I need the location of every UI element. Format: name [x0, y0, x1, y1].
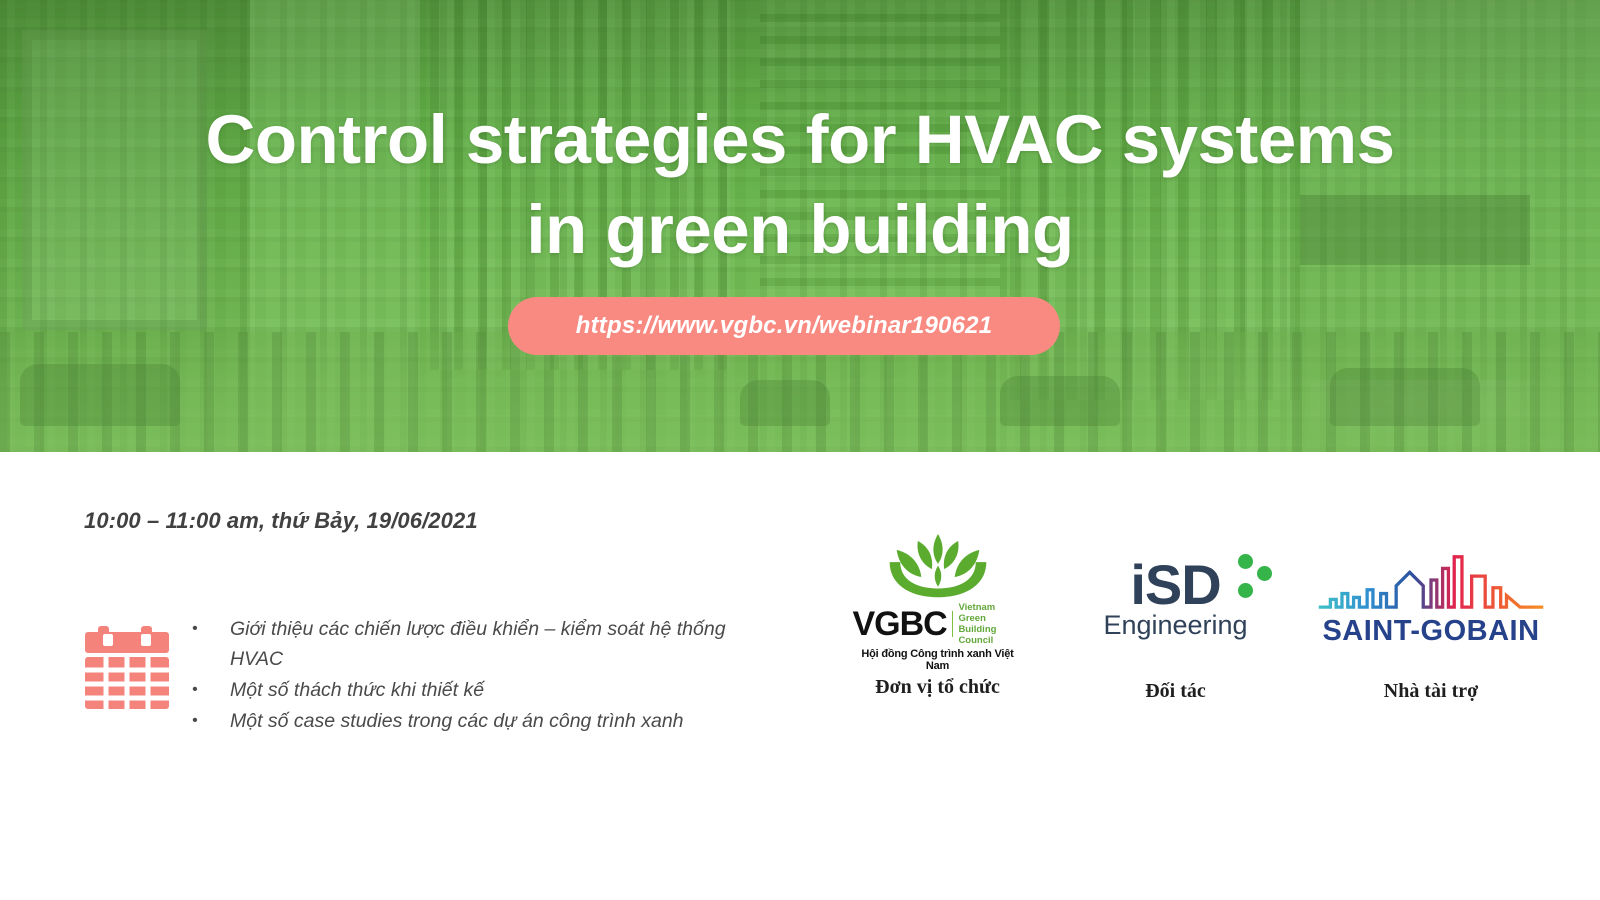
- vgbc-logo: VGBC Vietnam Green Building Council Hội …: [830, 524, 1045, 674]
- sponsor-vgbc: VGBC Vietnam Green Building Council Hội …: [830, 524, 1045, 699]
- isd-engineering-logo: iSD Engineering: [1068, 524, 1283, 674]
- vgbc-acronym: VGBC: [853, 607, 947, 641]
- registration-url-text: https://www.vgbc.vn/webinar190621: [576, 312, 993, 340]
- vgbc-tagline: Vietnam Green Building Council: [958, 602, 1022, 646]
- event-datetime: 10:00 – 11:00 am, thứ Bảy, 19/06/2021: [84, 508, 478, 534]
- sponsor-label-vgbc: Đơn vị tổ chức: [830, 676, 1045, 699]
- registration-url-button[interactable]: https://www.vgbc.vn/webinar190621: [508, 297, 1060, 355]
- agenda-item-text: Một số case studies trong các dự án công…: [230, 706, 752, 736]
- bullet-dot-icon: •: [192, 675, 230, 705]
- page-title: Control strategies for HVAC systems in g…: [0, 95, 1600, 275]
- sponsor-row: VGBC Vietnam Green Building Council Hội …: [830, 524, 1550, 739]
- list-item: • Giới thiệu các chiến lược điều khiển –…: [192, 614, 752, 674]
- sponsor-saint-gobain: SAINT-GOBAIN Nhà tài trợ: [1312, 524, 1550, 703]
- agenda-list: • Giới thiệu các chiến lược điều khiển –…: [192, 614, 752, 737]
- isd-dots-icon: [1216, 554, 1272, 610]
- list-item: • Một số case studies trong các dự án cô…: [192, 706, 752, 736]
- agenda-item-text: Một số thách thức khi thiết kế: [230, 675, 752, 705]
- calendar-icon: [81, 620, 173, 712]
- saint-gobain-logo: SAINT-GOBAIN: [1312, 524, 1550, 674]
- vgbc-tagline-line2: Building Council: [958, 624, 996, 646]
- vgbc-divider: [952, 611, 954, 637]
- bullet-dot-icon: •: [192, 706, 230, 736]
- webinar-slide: Control strategies for HVAC systems in g…: [0, 0, 1600, 900]
- list-item: • Một số thách thức khi thiết kế: [192, 675, 752, 705]
- sponsor-isd: iSD Engineering Đối tác: [1068, 524, 1283, 703]
- sponsor-label-isd: Đối tác: [1068, 680, 1283, 703]
- isd-word: Engineering: [1076, 611, 1276, 641]
- agenda-item-text: Giới thiệu các chiến lược điều khiển – k…: [230, 614, 752, 674]
- saint-gobain-name: SAINT-GOBAIN: [1313, 616, 1549, 648]
- sponsor-label-saint-gobain: Nhà tài trợ: [1312, 680, 1550, 703]
- vgbc-lotus-icon: [863, 527, 1013, 599]
- saint-gobain-skyline-icon: [1313, 551, 1549, 611]
- vgbc-vietnamese-name: Hội đồng Công trình xanh Việt Nam: [853, 648, 1023, 672]
- vgbc-tagline-line1: Vietnam Green: [958, 602, 995, 624]
- hero-banner: Control strategies for HVAC systems in g…: [0, 0, 1600, 452]
- bullet-dot-icon: •: [192, 614, 230, 644]
